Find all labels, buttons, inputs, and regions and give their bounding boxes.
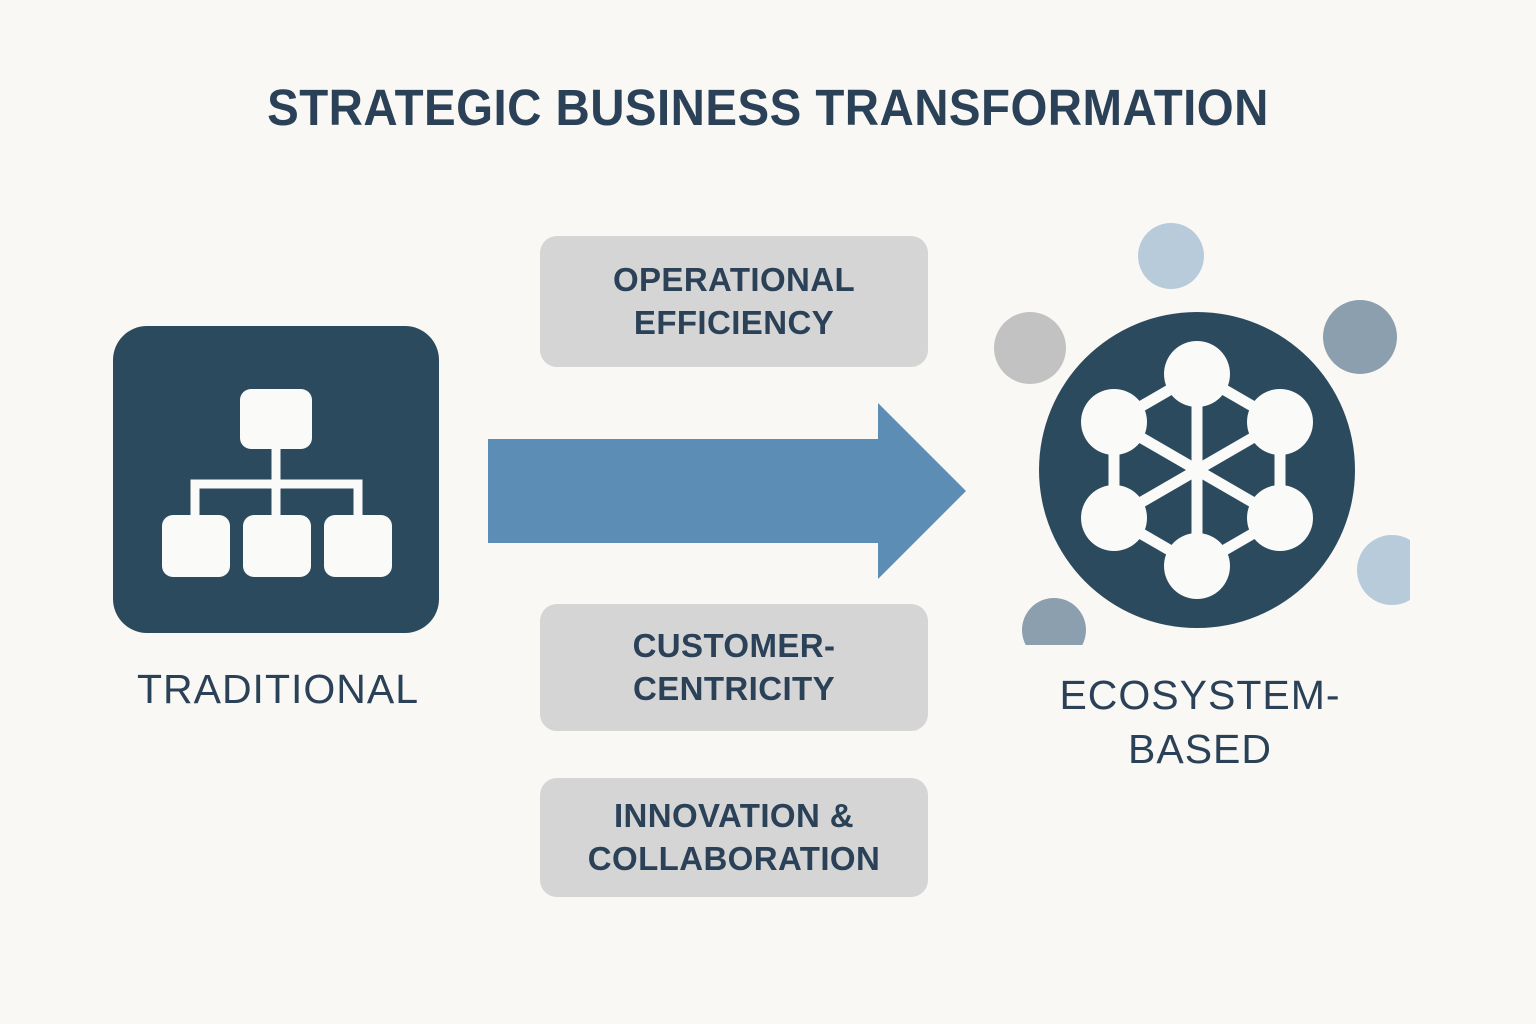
page-title: STRATEGIC BUSINESS TRANSFORMATION: [54, 78, 1482, 137]
pillar-line-2: EFFICIENCY: [613, 302, 855, 344]
accent-circle-gray: [994, 312, 1066, 384]
pillar-innovation-collaboration[interactable]: INNOVATION & COLLABORATION: [540, 778, 928, 897]
traditional-label: TRADITIONAL: [53, 666, 503, 713]
network-node: [1164, 533, 1230, 599]
org-hierarchy-icon: [113, 326, 439, 633]
network-node: [1081, 485, 1147, 551]
traditional-state-group: TRADITIONAL: [113, 326, 443, 633]
network-node: [1164, 341, 1230, 407]
pillar-customer-centricity[interactable]: CUSTOMER- CENTRICITY: [540, 604, 928, 731]
accent-circle-light-blue-2: [1357, 535, 1410, 605]
ecosystem-label-line-2: BASED: [990, 722, 1410, 776]
ecosystem-state-group: [985, 205, 1410, 645]
accent-circle-slate-2: [1022, 598, 1086, 645]
pillar-line-2: CENTRICITY: [633, 668, 836, 710]
accent-circle-slate: [1323, 300, 1397, 374]
right-arrow-icon: [488, 403, 966, 579]
pillar-line-1: INNOVATION &: [588, 795, 880, 837]
pillar-line-1: OPERATIONAL: [613, 259, 855, 301]
pillar-line-2: COLLABORATION: [588, 838, 880, 880]
ecosystem-label-line-1: ECOSYSTEM-: [990, 668, 1410, 722]
pillar-line-1: CUSTOMER-: [633, 625, 836, 667]
accent-circle-light-blue: [1138, 223, 1204, 289]
network-node: [1247, 485, 1313, 551]
network-node: [1081, 389, 1147, 455]
diagram-canvas: STRATEGIC BUSINESS TRANSFORMATION TRADIT…: [0, 0, 1536, 1024]
pillar-operational-efficiency[interactable]: OPERATIONAL EFFICIENCY: [540, 236, 928, 367]
network-node: [1247, 389, 1313, 455]
ecosystem-label: ECOSYSTEM- BASED: [990, 668, 1410, 776]
